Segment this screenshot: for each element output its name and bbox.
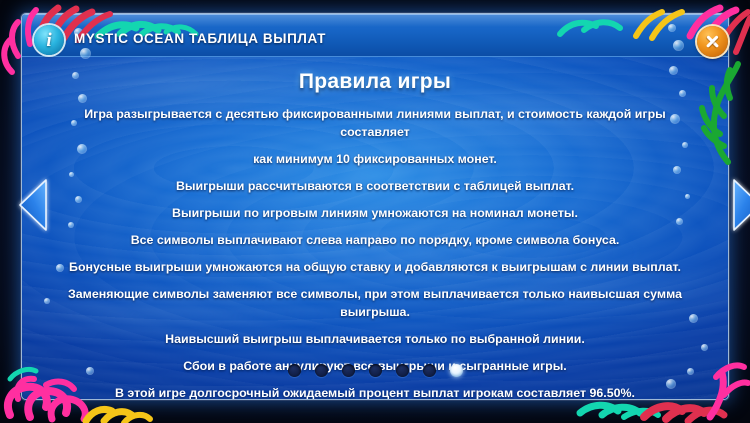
rule-line: Заменяющие символы заменяют все символы,…	[55, 286, 695, 322]
paytable-title: MYSTIC OCEAN ТАБЛИЦА ВЫПЛАТ	[74, 31, 326, 46]
rule-line: Все символы выплачивают слева направо по…	[65, 232, 685, 250]
paytable-panel: Правила игры Игра разыгрывается с десять…	[22, 14, 728, 399]
rule-line: Наивысший выигрыш выплачивается только п…	[65, 331, 685, 349]
pagination-dot-5[interactable]	[396, 364, 409, 377]
pagination-dot-2[interactable]	[315, 364, 328, 377]
rule-line: Выигрыши по игровым линиям умножаются на…	[65, 205, 685, 223]
rule-line: как минимум 10 фиксированных монет.	[65, 151, 685, 169]
paytable-screen: Правила игры Игра разыгрывается с десять…	[0, 0, 750, 423]
rule-line: Бонусные выигрыши умножаются на общую ст…	[55, 259, 695, 277]
page-title: Правила игры	[22, 70, 728, 94]
rule-line: Игра разыгрывается с десятью фиксированн…	[55, 106, 695, 142]
arrow-left-icon	[18, 178, 48, 232]
rule-line: Выигрыши рассчитываются в соответствии с…	[65, 178, 685, 196]
pagination-dot-6[interactable]	[423, 364, 436, 377]
pagination-dots	[22, 364, 728, 377]
rule-line-rtp: В этой игре долгосрочный ожидаемый проце…	[65, 385, 685, 399]
rules-list: Игра разыгрывается с десятью фиксированн…	[22, 106, 728, 399]
close-button[interactable]	[697, 26, 728, 57]
pagination-dot-4[interactable]	[369, 364, 382, 377]
arrow-right-icon	[732, 178, 750, 232]
pagination-dot-3[interactable]	[342, 364, 355, 377]
pagination-dot-1[interactable]	[288, 364, 301, 377]
close-icon	[705, 34, 720, 49]
info-icon-glyph: i	[46, 31, 51, 50]
title-bar-sheen	[22, 14, 728, 27]
pagination-dot-7[interactable]	[450, 364, 463, 377]
info-icon[interactable]: i	[34, 25, 64, 55]
rules-content: Правила игры Игра разыгрывается с десять…	[22, 56, 728, 399]
